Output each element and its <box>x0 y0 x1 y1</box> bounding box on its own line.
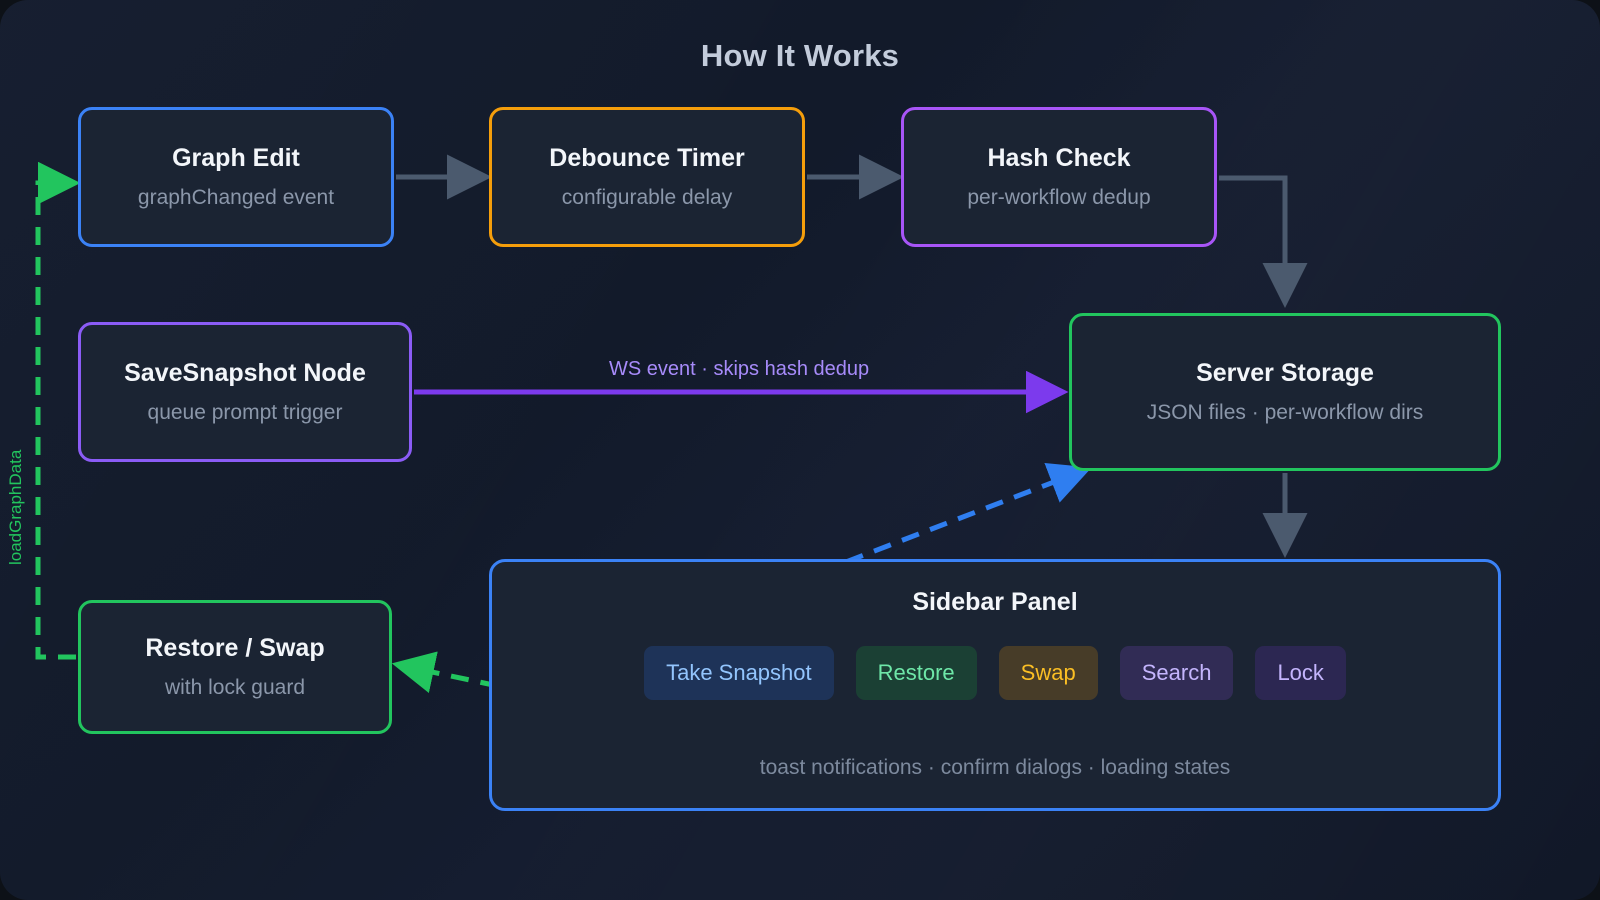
node-title: Graph Edit <box>172 144 300 173</box>
node-debounce-timer[interactable]: Debounce Timer configurable delay <box>489 107 805 247</box>
button-search[interactable]: Search <box>1120 646 1234 700</box>
node-subtitle: configurable delay <box>562 186 732 210</box>
node-title: Server Storage <box>1196 359 1374 388</box>
node-title: Debounce Timer <box>549 144 744 173</box>
node-title: Restore / Swap <box>145 634 324 663</box>
button-swap[interactable]: Swap <box>999 646 1098 700</box>
node-title: Hash Check <box>987 144 1130 173</box>
button-restore[interactable]: Restore <box>856 646 977 700</box>
edge-restore-swap-to-graph-edit <box>38 183 76 657</box>
node-restore-swap[interactable]: Restore / Swap with lock guard <box>78 600 392 734</box>
node-server-storage[interactable]: Server Storage JSON files · per-workflow… <box>1069 313 1501 471</box>
edge-label-ws-event: WS event · skips hash dedup <box>609 358 869 381</box>
sidebar-button-row: Take Snapshot Restore Swap Search Lock <box>492 646 1498 700</box>
page-title: How It Works <box>0 38 1600 74</box>
edge-label-load-graph-data: loadGraphData <box>6 450 26 565</box>
node-graph-edit[interactable]: Graph Edit graphChanged event <box>78 107 394 247</box>
node-subtitle: with lock guard <box>165 676 305 700</box>
sidebar-panel-title: Sidebar Panel <box>492 588 1498 617</box>
sidebar-panel: Sidebar Panel Take Snapshot Restore Swap… <box>489 559 1501 811</box>
edge-hash-check-to-server-storage <box>1219 178 1285 295</box>
edge-sidebar-to-restore-swap <box>404 666 498 686</box>
node-subtitle: per-workflow dedup <box>967 186 1150 210</box>
diagram-canvas: How It Works Graph Edit graphChanged eve… <box>0 0 1600 900</box>
node-save-snapshot[interactable]: SaveSnapshot Node queue prompt trigger <box>78 322 412 462</box>
sidebar-panel-footer: toast notifications · confirm dialogs · … <box>492 756 1498 780</box>
node-subtitle: queue prompt trigger <box>148 401 343 425</box>
node-title: SaveSnapshot Node <box>124 359 366 388</box>
button-lock[interactable]: Lock <box>1255 646 1345 700</box>
button-take-snapshot[interactable]: Take Snapshot <box>644 646 834 700</box>
node-subtitle: JSON files · per-workflow dirs <box>1147 401 1424 425</box>
node-subtitle: graphChanged event <box>138 186 334 210</box>
node-hash-check[interactable]: Hash Check per-workflow dedup <box>901 107 1217 247</box>
